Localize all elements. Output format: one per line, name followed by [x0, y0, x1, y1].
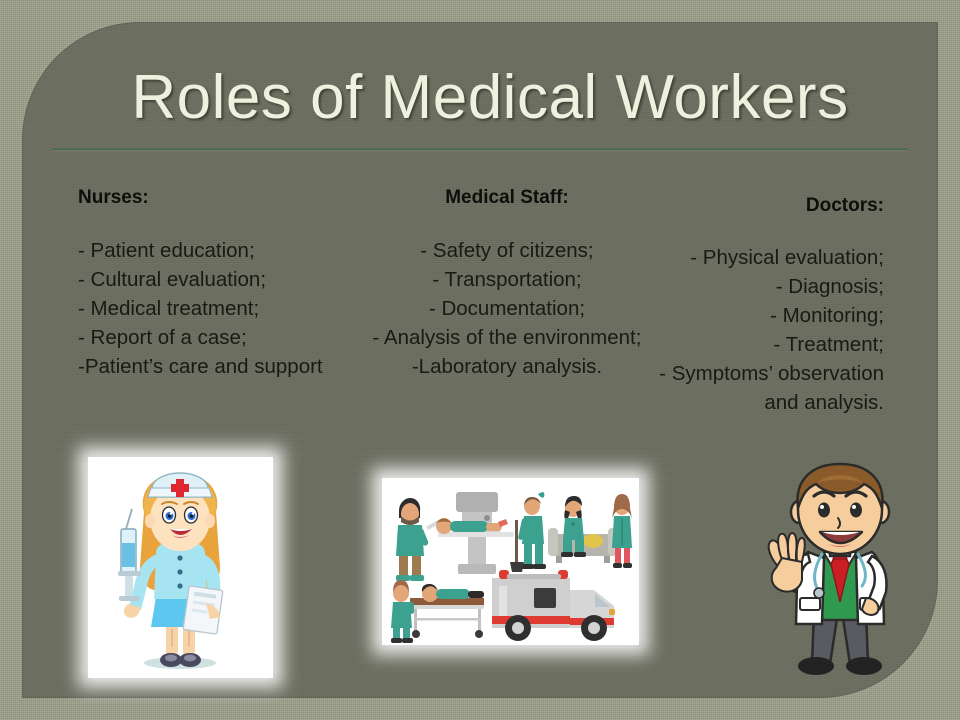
column-nurses: Nurses: - Patient education; - Cultural …: [78, 186, 323, 381]
medical-staff-illustration: [382, 478, 639, 645]
column-body-medical-staff: - Safety of citizens; - Transportation; …: [362, 236, 652, 381]
page-title: Roles of Medical Workers: [60, 62, 920, 134]
nurse-illustration: [88, 457, 273, 678]
column-doctors: Doctors: - Physical evaluation; - Diagno…: [632, 194, 884, 417]
title-divider: [52, 148, 908, 150]
column-body-nurses: - Patient education; - Cultural evaluati…: [78, 236, 323, 381]
column-heading-doctors: Doctors:: [632, 194, 884, 218]
column-body-doctors: - Physical evaluation; - Diagnosis; - Mo…: [632, 243, 884, 417]
slide-canvas: Roles of Medical Workers Nurses: - Patie…: [0, 0, 960, 720]
column-heading-nurses: Nurses:: [78, 186, 323, 210]
doctor-illustration: [752, 452, 928, 680]
column-medical-staff: Medical Staff: - Safety of citizens; - T…: [362, 186, 652, 381]
column-heading-medical-staff: Medical Staff:: [362, 186, 652, 210]
